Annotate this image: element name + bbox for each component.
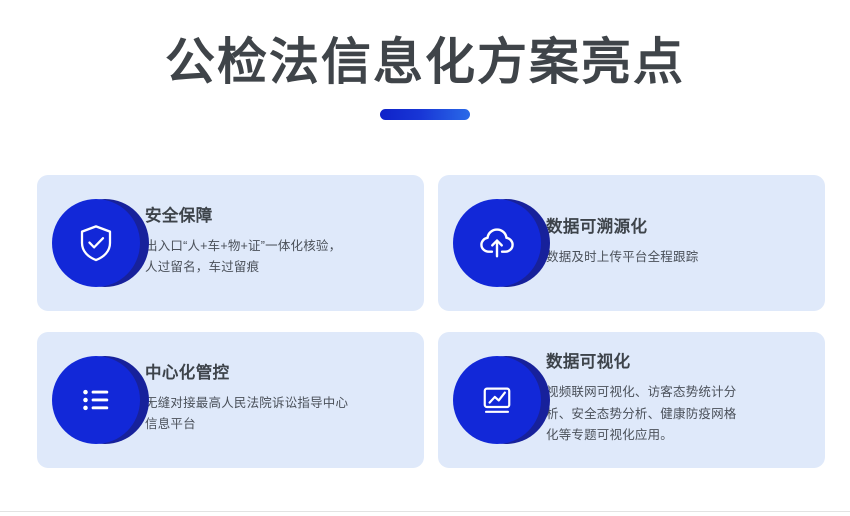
card-text: 数据可视化 视频联网可视化、访客态势统计分析、安全态势分析、健康防疫网格化等专题… [544,353,825,446]
card-title: 安全保障 [145,207,408,227]
feature-card-security[interactable]: 安全保障 出入口“人+车+物+证”一体化核验，人过留名，车过留痕 [37,175,424,311]
card-title: 数据可溯源化 [546,218,809,238]
icon-badge [37,332,143,468]
page-header: 公检法信息化方案亮点 [0,0,850,120]
page-root: 公检法信息化方案亮点 安全保障 出入口“人+车+物+证”一体化核验，人 [0,0,850,516]
icon-badge [438,175,544,311]
page-title: 公检法信息化方案亮点 [0,34,850,92]
card-text: 安全保障 出入口“人+车+物+证”一体化核验，人过留名，车过留痕 [143,207,424,279]
chart-monitor-icon [476,379,518,421]
bullet-list-icon [75,379,117,421]
card-description: 数据及时上传平台全程跟踪 [546,247,809,269]
icon-circle [52,199,140,287]
feature-card-visualization[interactable]: 数据可视化 视频联网可视化、访客态势统计分析、安全态势分析、健康防疫网格化等专题… [438,332,825,468]
icon-badge [438,332,544,468]
card-title: 中心化管控 [145,364,408,384]
title-underline-bar [380,109,470,120]
icon-circle [52,356,140,444]
shield-check-icon [75,222,117,264]
card-description: 出入口“人+车+物+证”一体化核验，人过留名，车过留痕 [145,236,350,279]
icon-circle [453,199,541,287]
bottom-divider [0,511,850,512]
card-description: 视频联网可视化、访客态势统计分析、安全态势分析、健康防疫网格化等专题可视化应用。 [546,382,741,447]
icon-circle [453,356,541,444]
card-text: 中心化管控 无缝对接最高人民法院诉讼指导中心信息平台 [143,364,424,436]
feature-card-traceability[interactable]: 数据可溯源化 数据及时上传平台全程跟踪 [438,175,825,311]
card-description: 无缝对接最高人民法院诉讼指导中心信息平台 [145,393,350,436]
cloud-upload-icon [475,221,519,265]
card-title: 数据可视化 [546,353,809,373]
feature-card-centralized-control[interactable]: 中心化管控 无缝对接最高人民法院诉讼指导中心信息平台 [37,332,424,468]
feature-card-grid: 安全保障 出入口“人+车+物+证”一体化核验，人过留名，车过留痕 [37,175,813,468]
card-text: 数据可溯源化 数据及时上传平台全程跟踪 [544,218,825,268]
icon-badge [37,175,143,311]
